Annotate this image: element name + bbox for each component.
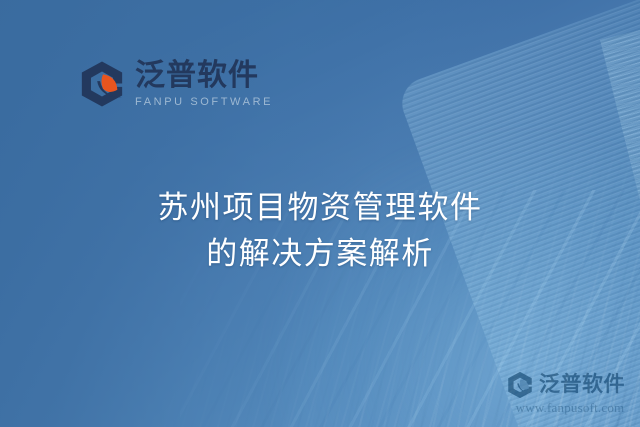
- fanpu-hexagon-sail-icon: [78, 60, 126, 108]
- watermark-url: www.fanpusoft.com: [506, 401, 634, 415]
- brand-name-cn: 泛普软件: [135, 60, 273, 92]
- background-tower-far: [600, 1, 640, 427]
- brand-name-en: FANPU SOFTWARE: [135, 97, 273, 108]
- promo-banner: 泛普软件 FANPU SOFTWARE 苏州项目物资管理软件 的解决方案解析 泛…: [0, 0, 640, 427]
- brand-logo-wordmark: 泛普软件 FANPU SOFTWARE: [135, 60, 273, 108]
- headline-line-2: 的解决方案解析: [0, 232, 640, 278]
- fanpu-hexagon-sail-icon: [506, 371, 534, 399]
- brand-logo[interactable]: 泛普软件 FANPU SOFTWARE: [78, 60, 273, 108]
- headline: 苏州项目物资管理软件 的解决方案解析: [0, 186, 640, 278]
- headline-line-1: 苏州项目物资管理软件: [0, 186, 640, 232]
- watermark-brand-name: 泛普软件: [539, 374, 625, 395]
- background-tower-right: [395, 0, 640, 427]
- watermark: 泛普软件 www.fanpusoft.com: [506, 371, 634, 415]
- watermark-logo-row: 泛普软件: [506, 371, 634, 399]
